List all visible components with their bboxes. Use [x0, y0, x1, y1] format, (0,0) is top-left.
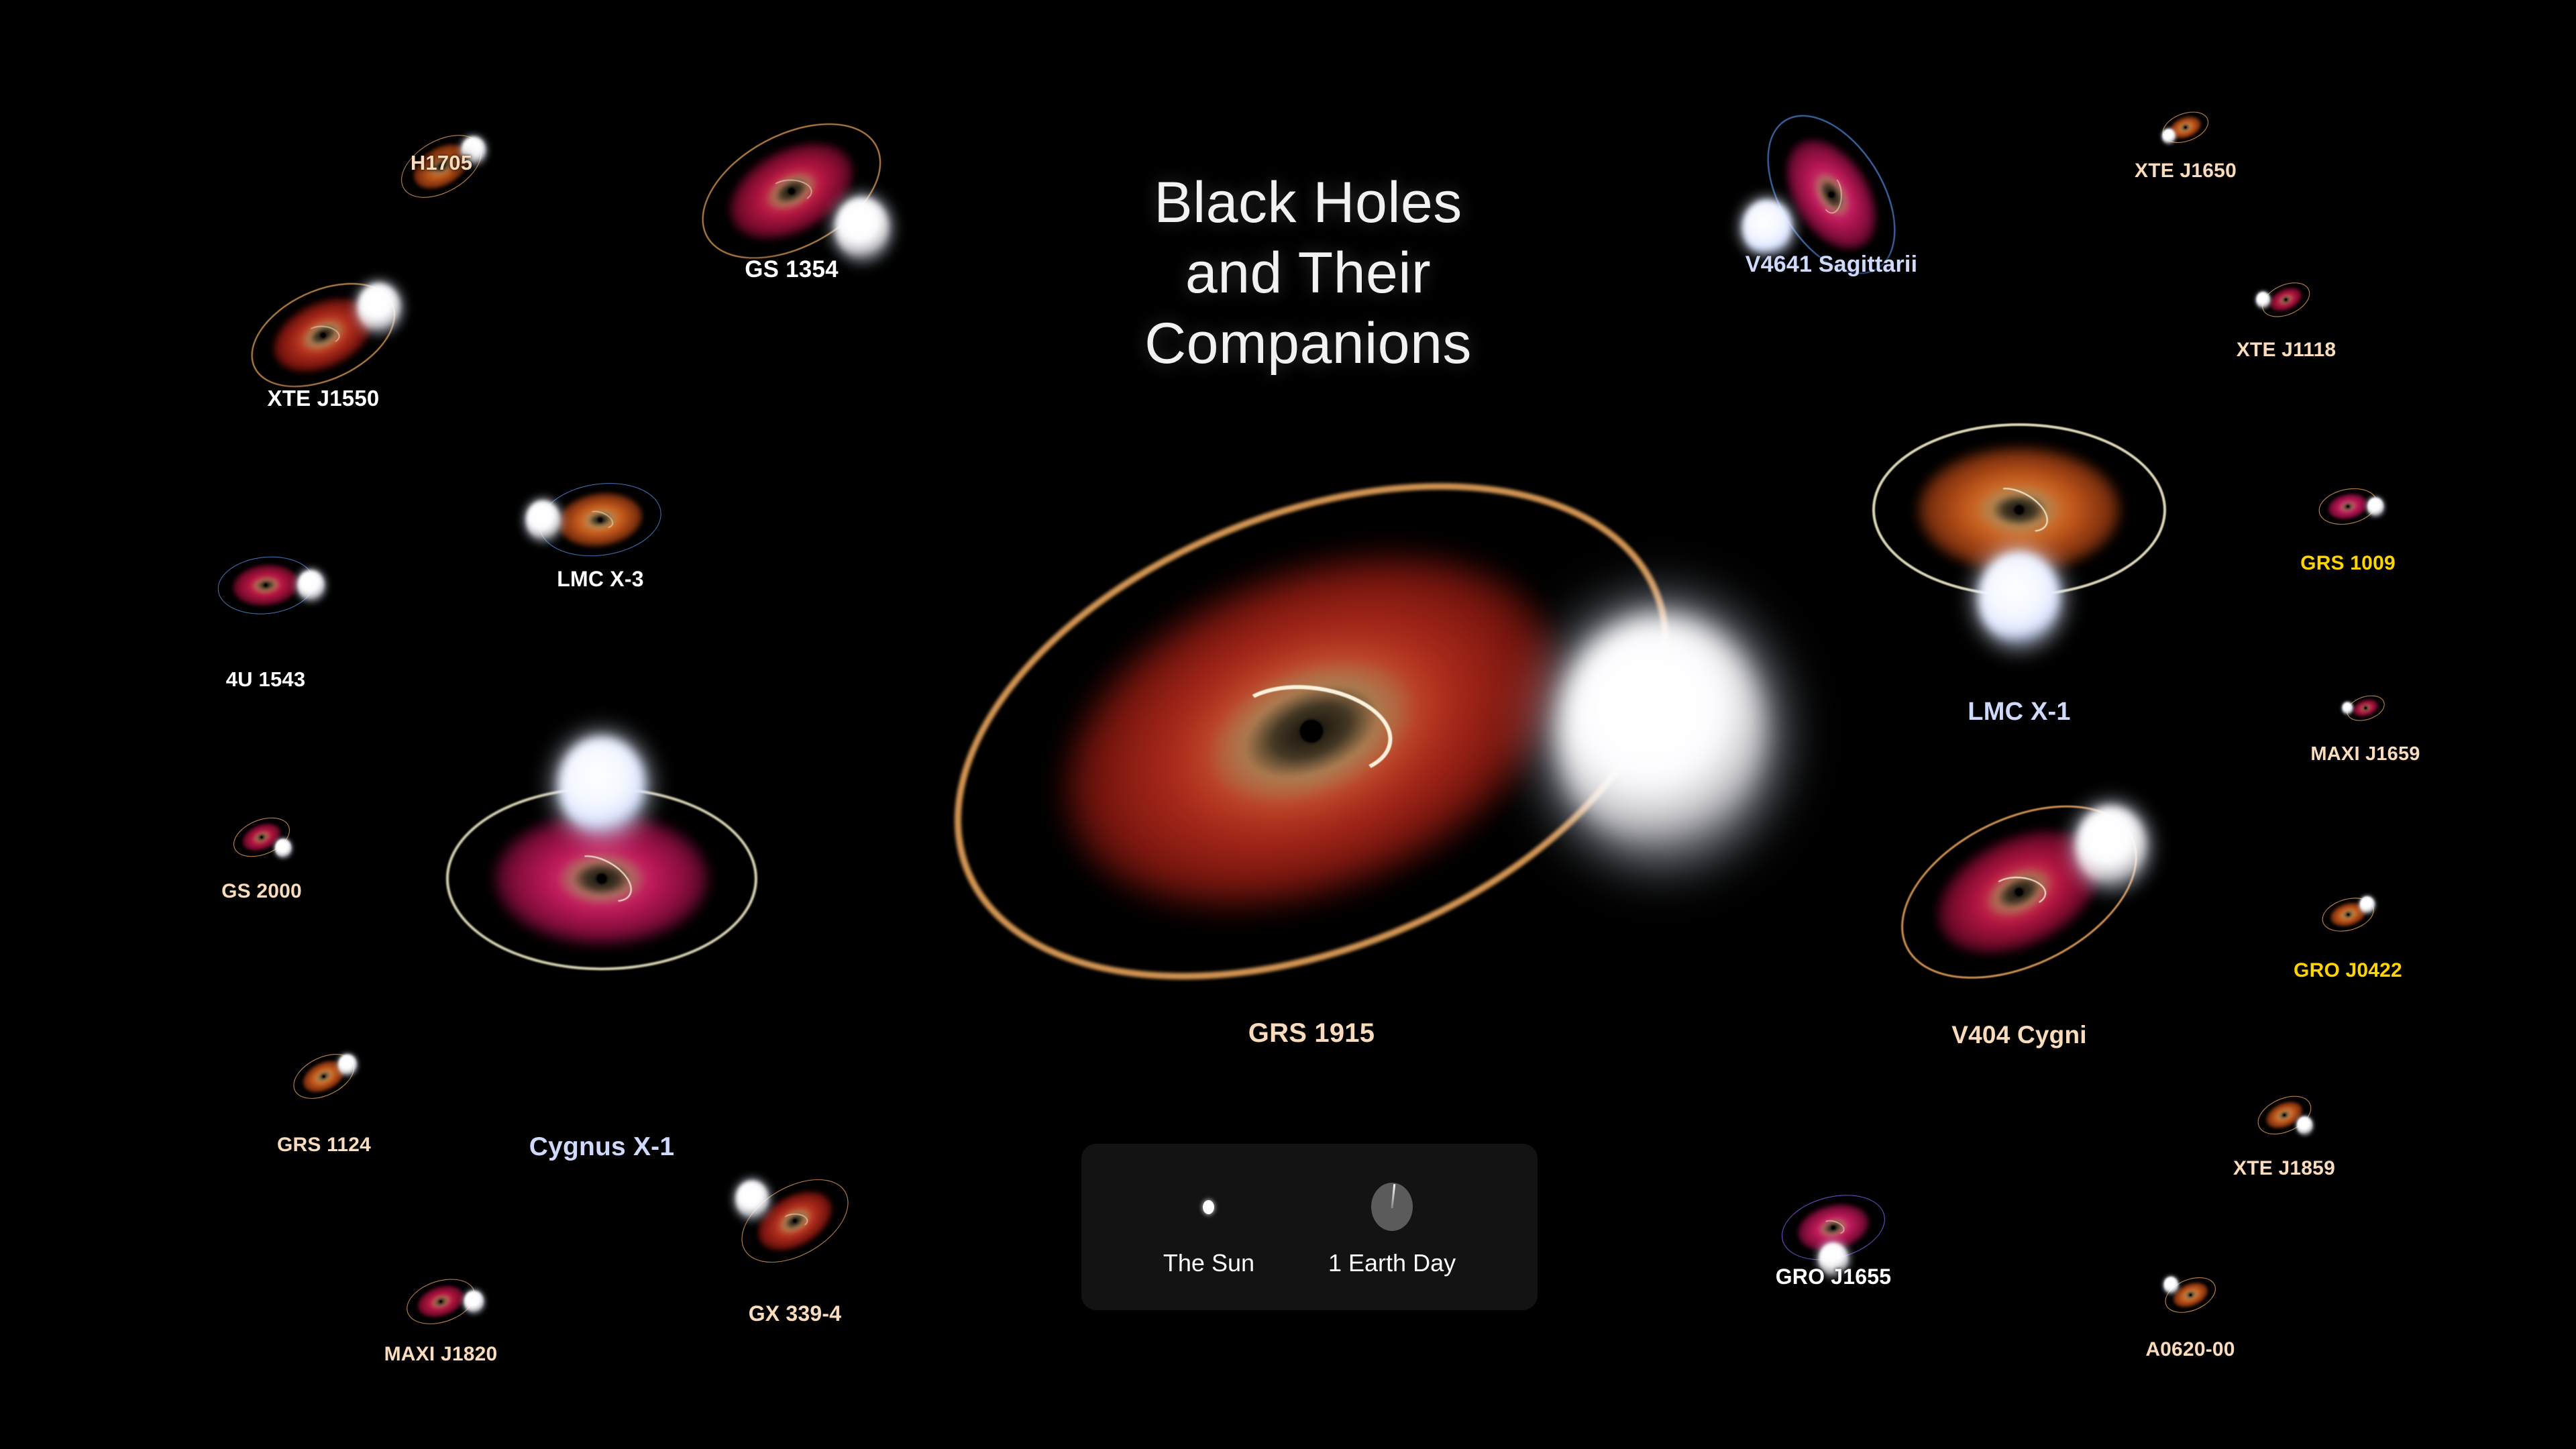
companion-star [2367, 497, 2383, 516]
companion-star [1978, 551, 2061, 645]
black-hole [2365, 707, 2367, 709]
binary-system-lmcx3[interactable] [473, 392, 728, 647]
companion-star [2296, 1116, 2312, 1134]
binary-system-cygx1[interactable] [341, 618, 862, 1139]
scale-legend: The Sun 1 Earth Day [1081, 1144, 1538, 1310]
black-hole [2347, 914, 2349, 916]
companion-star [1555, 612, 1767, 850]
companion-star [525, 500, 560, 539]
companion-star [735, 1181, 769, 1218]
system-label-gx339: GX 339-4 [749, 1301, 842, 1326]
system-label-v404: V404 Cygni [1951, 1021, 2086, 1049]
sun-dot-icon [1203, 1177, 1214, 1237]
companion-star [274, 839, 291, 857]
black-hole [323, 1075, 325, 1077]
binary-system-groj1655[interactable] [1718, 1112, 1948, 1342]
companion-star [2342, 702, 2353, 714]
system-label-a0620: A0620-00 [2145, 1338, 2235, 1361]
black-hole [2185, 127, 2187, 129]
system-label-lmcx3: LMC X-3 [557, 567, 643, 592]
system-label-maxij1820: MAXI J1820 [384, 1343, 498, 1366]
black-hole [2283, 1114, 2285, 1116]
black-hole [2347, 506, 2349, 508]
legend-sun-label: The Sun [1163, 1249, 1254, 1277]
system-label-xtej1650: XTE J1650 [2135, 160, 2237, 182]
black-hole [2285, 299, 2287, 301]
companion-star [338, 1055, 356, 1075]
system-label-xtej1550: XTE J1550 [268, 386, 380, 411]
companion-star [2162, 129, 2176, 144]
system-label-4u1543: 4U 1543 [226, 667, 306, 692]
black-hole [261, 837, 263, 839]
black-hole [2190, 1294, 2192, 1296]
system-label-groj1655: GRO J1655 [1776, 1265, 1892, 1289]
system-label-gs2000: GS 2000 [221, 880, 302, 903]
companion-star [297, 570, 325, 600]
system-label-cygx1: Cygnus X-1 [529, 1132, 675, 1162]
black-hole [2015, 506, 2024, 515]
system-label-xtej1859: XTE J1859 [2233, 1157, 2335, 1180]
companion-star [2076, 805, 2147, 885]
black-hole [597, 874, 606, 883]
system-label-groj0422: GRO J0422 [2294, 959, 2402, 982]
system-label-grs1124: GRS 1124 [277, 1134, 371, 1157]
companion-star [557, 736, 645, 835]
system-label-maxij1659: MAXI J1659 [2310, 743, 2420, 765]
legend-item-sun: The Sun [1163, 1177, 1254, 1277]
system-label-h1705: H1705 [411, 151, 472, 175]
system-label-grs1915: GRS 1915 [1248, 1018, 1375, 1049]
companion-star [464, 1290, 484, 1312]
binary-system-xtej1550[interactable] [175, 187, 472, 484]
black-hole [321, 333, 326, 338]
legend-item-earth-day: 1 Earth Day [1328, 1177, 1456, 1277]
system-label-grs1009: GRS 1009 [2300, 552, 2396, 575]
black-hole [1300, 720, 1322, 742]
day-disc-icon [1371, 1177, 1413, 1237]
legend-day-label: 1 Earth Day [1328, 1249, 1456, 1277]
black-hole [1832, 1226, 1835, 1230]
visualization-canvas: Black Holes and Their Companions H1705GS… [0, 0, 2576, 1449]
